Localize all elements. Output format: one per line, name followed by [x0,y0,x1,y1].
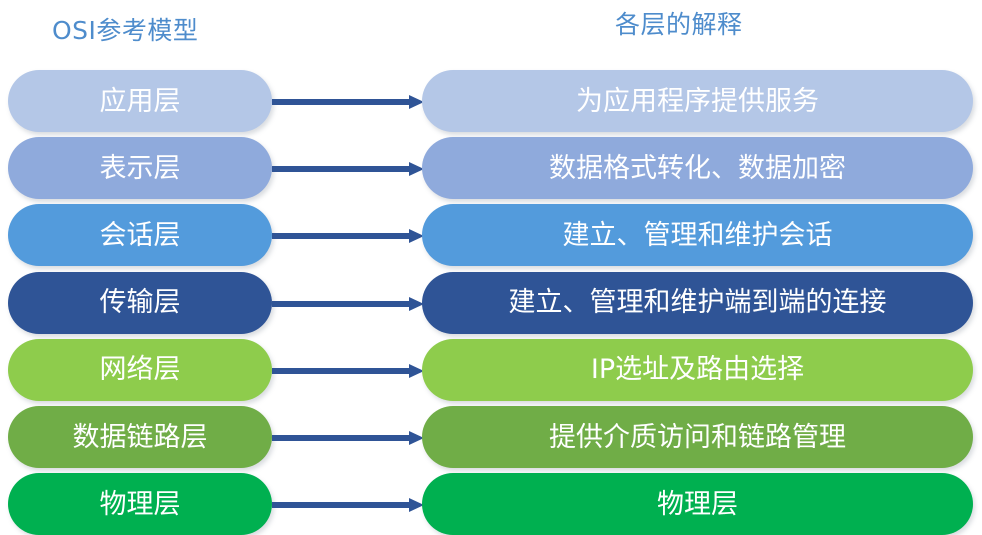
arrow-shaft [272,368,410,374]
column-heading-osi-model: OSI参考模型 [52,18,198,43]
layer-name-label: 网络层 [90,356,191,383]
arrow-shaft [272,301,410,307]
layer-description-label: 建立、管理和维护端到端的连接 [499,289,897,316]
arrow-right-icon [272,498,424,510]
layer-description-label: 提供介质访问和链路管理 [539,424,856,451]
arrow-right-icon [272,364,424,376]
layer-name-bar[interactable]: 物理层 [8,473,272,535]
layer-description-bar[interactable]: 物理层 [422,473,973,535]
layer-description-label: 物理层 [647,491,748,518]
arrow-right-icon [272,162,424,174]
arrow-shaft [272,435,410,441]
layer-description-bar[interactable]: 建立、管理和维护端到端的连接 [422,272,973,334]
layer-row: 网络层IP选址及路由选择 [0,339,982,401]
arrow-right-icon [272,297,424,309]
layer-row: 传输层建立、管理和维护端到端的连接 [0,272,982,334]
arrow-shaft [272,502,410,508]
layer-name-label: 会话层 [90,222,191,249]
layer-description-bar[interactable]: 数据格式转化、数据加密 [422,137,973,199]
layer-name-bar[interactable]: 传输层 [8,272,272,334]
layer-row: 物理层物理层 [0,473,982,535]
layer-description-label: 为应用程序提供服务 [566,88,829,115]
layer-name-bar[interactable]: 网络层 [8,339,272,401]
layer-description-bar[interactable]: IP选址及路由选择 [422,339,973,401]
layer-row: 表示层数据格式转化、数据加密 [0,137,982,199]
layer-name-bar[interactable]: 表示层 [8,137,272,199]
arrow-shaft [272,99,410,105]
layer-row: 会话层建立、管理和维护会话 [0,204,982,266]
layer-name-bar[interactable]: 会话层 [8,204,272,266]
arrow-right-icon [272,229,424,241]
arrow-right-icon [272,431,424,443]
layer-row: 应用层为应用程序提供服务 [0,70,982,132]
layer-name-label: 应用层 [90,88,191,115]
column-heading-layer-explanation: 各层的解释 [615,12,743,37]
layer-description-bar[interactable]: 为应用程序提供服务 [422,70,973,132]
layer-description-bar[interactable]: 建立、管理和维护会话 [422,204,973,266]
arrow-shaft [272,166,410,172]
layer-description-label: IP选址及路由选择 [581,356,814,383]
layer-description-bar[interactable]: 提供介质访问和链路管理 [422,406,973,468]
layer-name-bar[interactable]: 应用层 [8,70,272,132]
arrow-right-icon [272,95,424,107]
layer-description-label: 数据格式转化、数据加密 [539,155,856,182]
layer-name-label: 数据链路层 [63,424,218,451]
layer-name-label: 表示层 [90,155,191,182]
osi-model-diagram: OSI参考模型 各层的解释 应用层为应用程序提供服务表示层数据格式转化、数据加密… [0,0,982,532]
layer-description-label: 建立、管理和维护会话 [553,222,843,249]
layer-name-label: 传输层 [90,289,191,316]
arrow-shaft [272,233,410,239]
layer-name-bar[interactable]: 数据链路层 [8,406,272,468]
layer-name-label: 物理层 [90,491,191,518]
layer-row: 数据链路层提供介质访问和链路管理 [0,406,982,468]
